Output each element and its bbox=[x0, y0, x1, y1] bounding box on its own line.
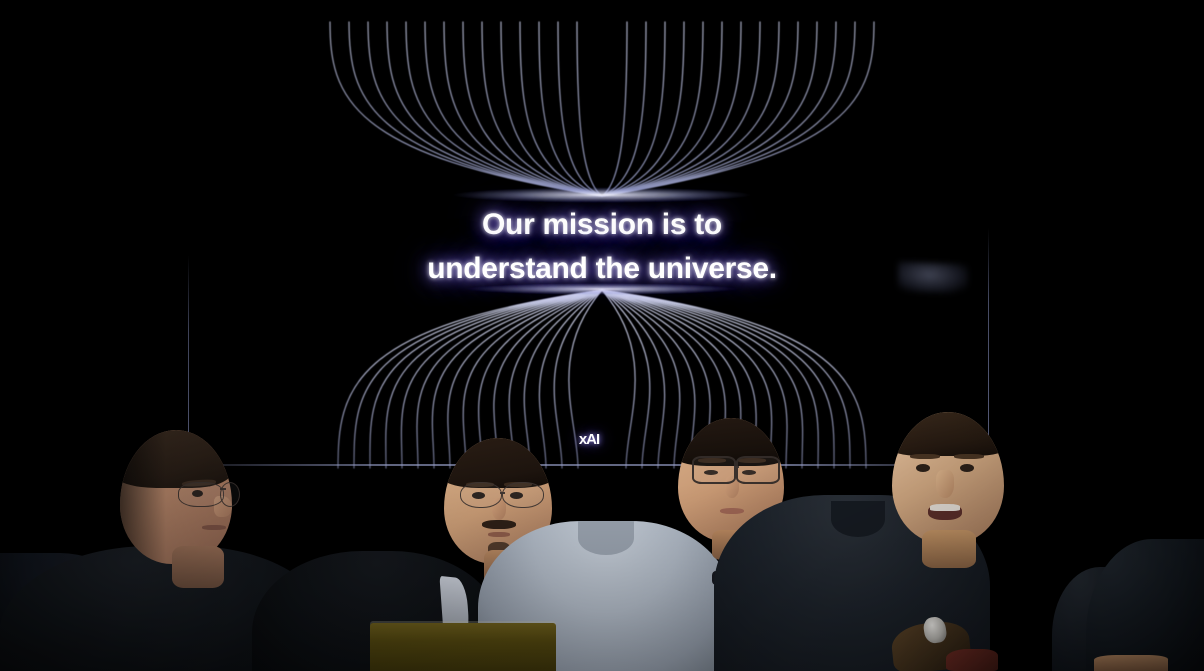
panelist-third-mouth bbox=[720, 508, 744, 514]
panelist-third-glasses-lens-right bbox=[736, 456, 780, 484]
panelist-right-brow-left bbox=[910, 454, 940, 459]
panelist-right-head bbox=[892, 412, 1004, 544]
laptop-lid bbox=[370, 623, 556, 671]
panelist-left-glasses-lens-right bbox=[220, 482, 240, 507]
panelist-second-glasses-bridge bbox=[500, 492, 505, 494]
panelist-right-neck bbox=[922, 530, 976, 568]
panelist-second-mouth bbox=[488, 532, 510, 537]
arm-edge-skin bbox=[1094, 655, 1168, 671]
panelist-third-neckline bbox=[578, 521, 634, 555]
panelist-second-glasses-lens-left bbox=[460, 482, 502, 508]
panelist-second-glasses-lens-right bbox=[502, 482, 544, 508]
panelist-third-glasses-bridge bbox=[734, 466, 739, 468]
panelist-left-glasses-lens-left bbox=[178, 482, 224, 507]
panelist-right-hair bbox=[892, 412, 1004, 456]
video-frame: Our mission is to understand the univers… bbox=[0, 0, 1204, 671]
held-object-red bbox=[946, 649, 998, 671]
panelist-right-eye-right bbox=[960, 464, 974, 472]
panelist-right-eye-left bbox=[916, 464, 930, 472]
panelist-right-neckline bbox=[831, 501, 885, 537]
panelist-right-brow-right bbox=[954, 454, 984, 459]
panelist-second-mustache bbox=[482, 520, 516, 529]
panelist-left-mouth bbox=[202, 525, 226, 530]
panelist-right-teeth bbox=[930, 504, 960, 511]
panelist-left-face-shadow bbox=[120, 430, 166, 564]
panelist-third-glasses-lens-left bbox=[692, 456, 736, 484]
panelist-right-nose bbox=[936, 470, 954, 498]
panelist-left-glasses-bridge bbox=[220, 488, 226, 490]
xai-logo-mark: xAI bbox=[579, 431, 599, 448]
xai-logo: xAI bbox=[578, 428, 600, 450]
panelist-second-hair bbox=[444, 438, 552, 488]
panelist-left-neck bbox=[172, 546, 224, 588]
